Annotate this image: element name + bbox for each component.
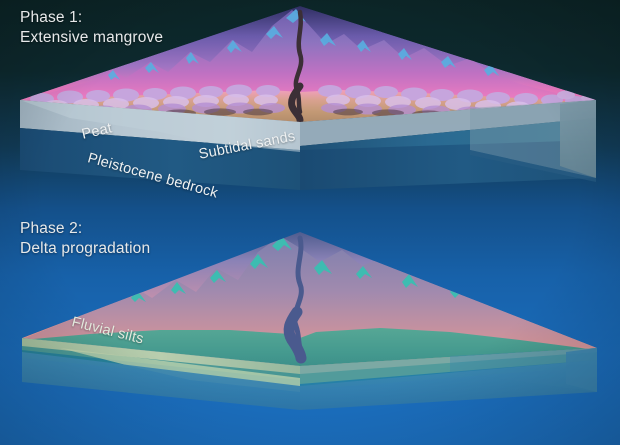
figure-canvas: Phase 1: Extensive mangrove Phase 2: Del… [0, 0, 620, 445]
vignette-overlay [0, 0, 620, 445]
